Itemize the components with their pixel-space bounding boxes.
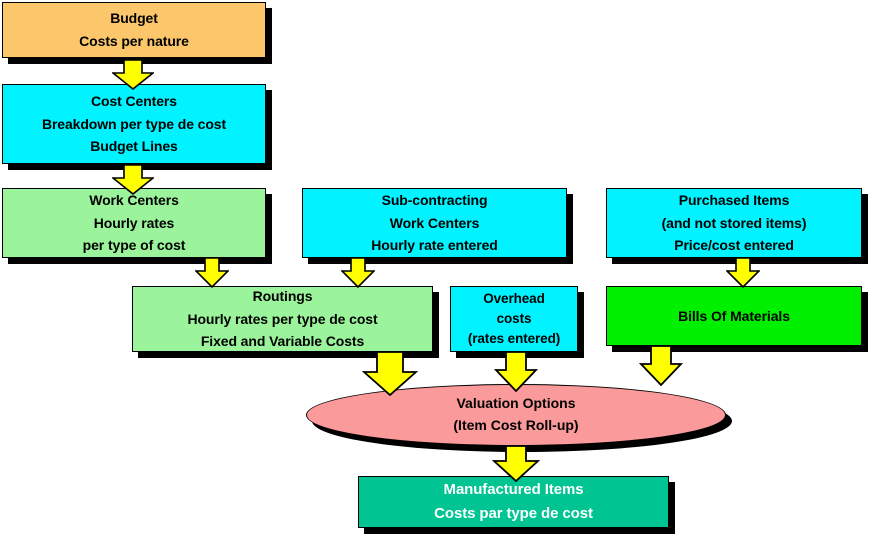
node-purchased-items[interactable]: Purchased Items (and not stored items) P… [606, 188, 862, 258]
node-sub-contracting-line-1: Sub-contracting [382, 189, 488, 212]
node-overhead-costs[interactable]: Overhead costs (rates entered) [450, 286, 578, 352]
diagram-canvas: Budget Costs per nature Cost Centers Bre… [0, 0, 872, 541]
node-overhead-costs-line-2: costs [497, 309, 532, 329]
node-budget-line-2: Costs per nature [79, 30, 189, 53]
node-routings-line-1: Routings [253, 285, 313, 308]
node-routings-line-2: Hourly rates per type de cost [187, 308, 377, 331]
arrow-overhead-costs-to-valuation-options [494, 352, 538, 392]
node-purchased-items-line-2: (and not stored items) [662, 212, 807, 235]
node-purchased-items-line-3: Price/cost entered [674, 234, 794, 257]
arrow-purchased-items-to-bills-of-materials [726, 258, 760, 288]
node-valuation-options-line-1: Valuation Options [456, 393, 575, 415]
node-work-centers[interactable]: Work Centers Hourly rates per type of co… [2, 188, 266, 258]
node-sub-contracting[interactable]: Sub-contracting Work Centers Hourly rate… [302, 188, 567, 258]
node-purchased-items-line-1: Purchased Items [679, 189, 790, 212]
node-bills-of-materials-line-1: Bills Of Materials [678, 305, 790, 328]
node-overhead-costs-line-3: (rates entered) [468, 329, 560, 349]
arrow-bills-of-materials-to-valuation-options [639, 346, 683, 386]
node-manufactured-items-line-2: Costs par type de cost [434, 502, 593, 526]
node-overhead-costs-line-1: Overhead [483, 289, 544, 309]
node-cost-centers-line-2: Breakdown per type de cost [42, 113, 226, 136]
node-cost-centers[interactable]: Cost Centers Breakdown per type de cost … [2, 84, 266, 164]
arrow-cost-centers-to-work-centers [112, 165, 154, 195]
node-work-centers-line-3: per type of cost [83, 234, 186, 257]
node-work-centers-line-2: Hourly rates [94, 212, 175, 235]
arrow-sub-contracting-to-routings [341, 258, 375, 288]
node-cost-centers-line-3: Budget Lines [90, 135, 177, 158]
node-routings-line-3: Fixed and Variable Costs [201, 330, 364, 353]
node-routings[interactable]: Routings Hourly rates per type de cost F… [132, 286, 433, 352]
node-valuation-options-line-2: (Item Cost Roll-up) [453, 415, 578, 437]
node-manufactured-items[interactable]: Manufactured Items Costs par type de cos… [358, 476, 669, 528]
node-cost-centers-line-1: Cost Centers [91, 90, 177, 113]
node-budget[interactable]: Budget Costs per nature [2, 2, 266, 58]
node-bills-of-materials[interactable]: Bills Of Materials [606, 286, 862, 346]
node-budget-line-1: Budget [110, 7, 158, 30]
node-sub-contracting-line-3: Hourly rate entered [371, 234, 497, 257]
arrow-work-centers-to-routings [195, 258, 229, 288]
arrow-routings-to-valuation-options [362, 352, 418, 396]
arrow-budget-to-cost-centers [112, 60, 154, 90]
arrow-valuation-options-to-manufactured-items [492, 446, 540, 482]
node-sub-contracting-line-2: Work Centers [390, 212, 480, 235]
